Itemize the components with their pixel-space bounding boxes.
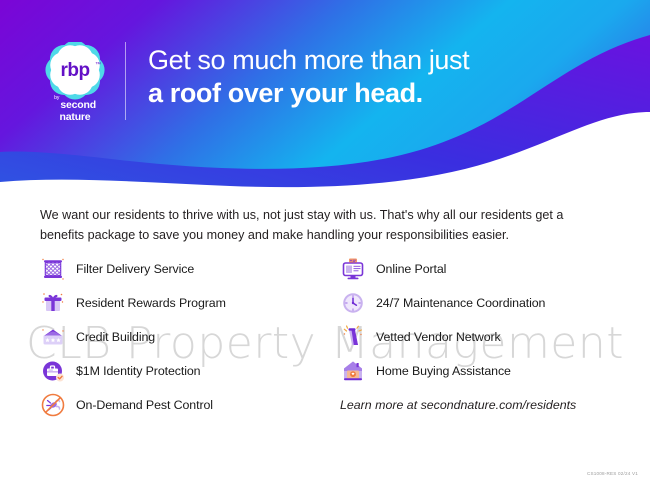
benefit-label: $1M Identity Protection [76, 364, 200, 378]
house-heart-icon [340, 358, 366, 384]
header-banner: rbp ™ bysecond nature Get so much more t… [0, 0, 650, 195]
logo-brand-line1: second [60, 99, 96, 111]
benefit-label: Home Buying Assistance [376, 364, 511, 378]
learn-more-link[interactable]: Learn more at secondnature.com/residents [340, 398, 576, 412]
benefit-label: Credit Building [76, 330, 155, 344]
briefcase-shield-icon [40, 358, 66, 384]
benefit-label: Filter Delivery Service [76, 262, 194, 276]
intro-paragraph: We want our residents to thrive with us,… [40, 206, 605, 245]
benefit-label: Vetted Vendor Network [376, 330, 501, 344]
footer-code: CS1008-RES 02/24 V1 [587, 471, 638, 476]
rbp-logo: rbp ™ bysecond nature [36, 42, 114, 122]
benefit-label: Online Portal [376, 262, 446, 276]
clock-icon [340, 290, 366, 316]
rbp-flower-logo-icon: rbp ™ [44, 42, 106, 94]
benefit-label: Resident Rewards Program [76, 296, 226, 310]
svg-text:rbp: rbp [60, 60, 89, 81]
svg-text:™: ™ [95, 61, 101, 68]
header-divider [125, 42, 126, 120]
benefit-item-identity-protection: $1M Identity Protection [40, 354, 330, 388]
desktop-monitor-icon [340, 256, 366, 282]
headline: Get so much more than just a roof over y… [148, 44, 608, 110]
benefit-label: On-Demand Pest Control [76, 398, 213, 412]
no-pest-icon [40, 392, 66, 418]
benefit-item-filter-delivery: Filter Delivery Service [40, 252, 330, 286]
air-filter-icon [40, 256, 66, 282]
benefit-item-vendor-network: Vetted Vendor Network [340, 320, 630, 354]
credit-score-icon [40, 324, 66, 350]
benefit-item-home-buying: Home Buying Assistance [340, 354, 630, 388]
benefit-item-resident-rewards: Resident Rewards Program [40, 286, 330, 320]
headline-line-2: a roof over your head. [148, 77, 608, 110]
benefit-item-pest-control: On-Demand Pest Control [40, 388, 330, 422]
benefit-item-credit-building: Credit Building [40, 320, 330, 354]
benefit-label: 24/7 Maintenance Coordination [376, 296, 545, 310]
gift-box-icon [40, 290, 66, 316]
benefit-item-online-portal: Online Portal [340, 252, 630, 286]
logo-brand-line2: nature [54, 112, 96, 123]
benefits-column-left: Filter Delivery Service Resident Rewards… [40, 252, 330, 422]
benefit-item-maintenance: 24/7 Maintenance Coordination [340, 286, 630, 320]
benefits-column-right: Online Portal 24 [340, 252, 630, 388]
headline-line-1: Get so much more than just [148, 44, 608, 77]
paint-roller-icon [340, 324, 366, 350]
flyer-page: rbp ™ bysecond nature Get so much more t… [0, 0, 650, 488]
